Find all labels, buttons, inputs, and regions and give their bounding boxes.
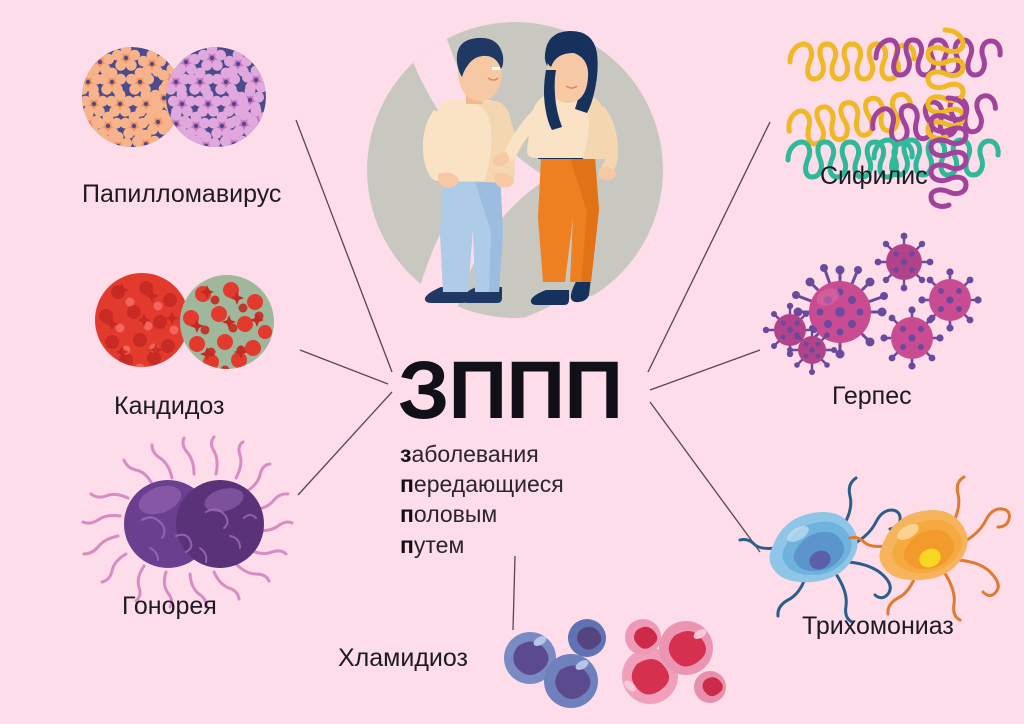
expansion-line-4: путем <box>400 530 698 560</box>
label-herpes: Герпес <box>832 382 912 411</box>
center-title-block: ЗППП заболевания передающиеся половым пу… <box>398 352 698 560</box>
expansion-line-3: половым <box>400 499 698 529</box>
label-gonorrhea: Гонорея <box>122 592 217 621</box>
expansion-initial-2: п <box>400 471 414 497</box>
label-chlamydia: Хламидиоз <box>338 644 468 673</box>
label-papillomavirus: Папилломавирус <box>82 180 281 209</box>
expansion-initial-3: п <box>400 501 414 527</box>
label-syphilis: Сифилис <box>820 162 928 191</box>
expansion-line-2: передающиеся <box>400 469 698 499</box>
expansion-initial-4: п <box>400 532 414 558</box>
infographic-poster: ЗППП заболевания передающиеся половым пу… <box>0 0 1024 724</box>
expansion-initial-1: з <box>400 441 411 467</box>
acronym-title: ЗППП <box>398 352 698 431</box>
expansion-rest-4: утем <box>414 532 464 558</box>
expansion-rest-1: аболевания <box>411 441 538 467</box>
acronym-expansion: заболевания передающиеся половым путем <box>400 439 698 560</box>
label-candidiasis: Кандидоз <box>114 392 225 421</box>
label-trichomoniasis: Трихомониаз <box>802 612 954 641</box>
expansion-rest-2: ередающиеся <box>414 471 564 497</box>
expansion-rest-3: оловым <box>414 501 497 527</box>
expansion-line-1: заболевания <box>400 439 698 469</box>
